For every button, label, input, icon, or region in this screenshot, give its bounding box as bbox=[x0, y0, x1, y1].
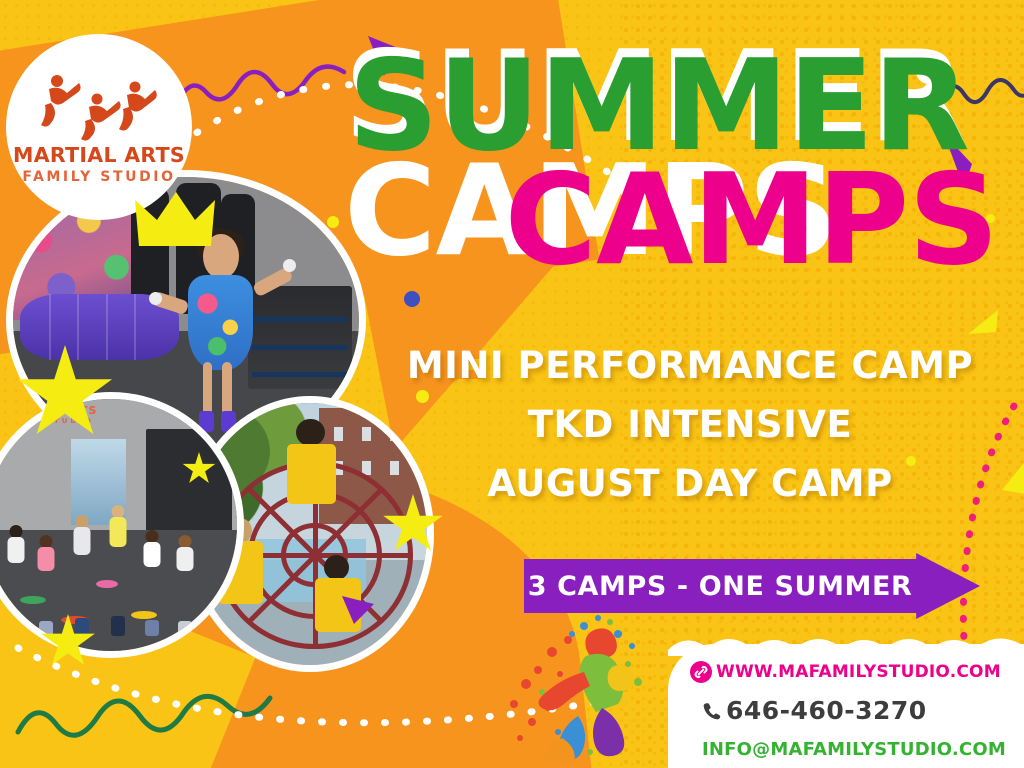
phone-icon bbox=[696, 701, 726, 721]
kid-right-head bbox=[324, 555, 349, 580]
instructor-legs bbox=[111, 616, 125, 636]
headline-camps: CAMPS CAMPS bbox=[336, 166, 1024, 274]
three-kicking-figures-icon bbox=[35, 69, 163, 143]
headline-block: SUMMER SUMMER CAMPS CAMPS bbox=[336, 52, 1024, 275]
camp-item-3: AUGUST DAY CAMP bbox=[356, 462, 1024, 505]
kid-1-body bbox=[8, 537, 25, 563]
photo-group-class: MARTIAL ARTS FAMILY STUDIO bbox=[0, 392, 244, 658]
kid-4-legs bbox=[145, 620, 159, 636]
summer-camps-flyer: SUMMER SUMMER CAMPS CAMPS MINI PERFORMAN… bbox=[0, 0, 1024, 768]
studio-dark-panel bbox=[146, 429, 232, 535]
contact-website-text: WWW.MAFAMILYSTUDIO.COM bbox=[716, 662, 1001, 682]
contact-email-text: INFO@MAFAMILYSTUDIO.COM bbox=[702, 739, 1006, 760]
yellow-triangle-right bbox=[966, 306, 1000, 338]
kid-1-legs bbox=[9, 620, 23, 636]
kid-5-body bbox=[177, 547, 194, 571]
ball-right bbox=[283, 259, 296, 272]
instructor bbox=[106, 505, 130, 636]
promo-arrow-banner: 3 CAMPS - ONE SUMMER bbox=[524, 553, 980, 619]
purple-triangle-photo bbox=[340, 592, 376, 626]
camp-list: MINI PERFORMANCE CAMP TKD INTENSIVE AUGU… bbox=[356, 344, 1024, 521]
kid-3-legs bbox=[75, 618, 89, 636]
yellow-crown-icon bbox=[133, 190, 219, 252]
contact-card: WWW.MAFAMILYSTUDIO.COM 646-460-3270 INFO… bbox=[668, 644, 1024, 768]
kid-5-legs bbox=[178, 621, 192, 636]
logo-name: MARTIAL ARTS bbox=[13, 145, 185, 166]
contact-website-row[interactable]: WWW.MAFAMILYSTUDIO.COM bbox=[668, 644, 1024, 691]
photo-2-content: MARTIAL ARTS FAMILY STUDIO bbox=[0, 399, 237, 651]
contact-email-row[interactable]: INFO@MAFAMILYSTUDIO.COM bbox=[668, 730, 1024, 768]
blue-dot bbox=[404, 291, 420, 307]
logo-tagline: FAMILY STUDIO bbox=[22, 169, 175, 185]
kid-top-head bbox=[296, 419, 325, 447]
kid-3 bbox=[71, 515, 93, 636]
headline-camps-text: CAMPS bbox=[336, 166, 998, 274]
instructor-body bbox=[109, 517, 126, 547]
child-dress bbox=[188, 275, 253, 370]
kid-5 bbox=[174, 535, 196, 636]
kid-4 bbox=[141, 530, 163, 636]
kid-top-jersey bbox=[287, 444, 336, 504]
camp-item-1: MINI PERFORMANCE CAMP bbox=[356, 344, 1024, 387]
contact-phone-text: 646-460-3270 bbox=[726, 696, 927, 725]
kid-4-body bbox=[144, 542, 161, 567]
arrow-banner-label: 3 CAMPS - ONE SUMMER bbox=[524, 553, 916, 619]
kid-3-body bbox=[73, 527, 90, 555]
kid-2 bbox=[35, 535, 57, 636]
kid-1 bbox=[5, 525, 27, 636]
contact-phone-row[interactable]: 646-460-3270 bbox=[668, 691, 1024, 730]
paint-splash-martial-artist bbox=[498, 612, 688, 768]
ball-left bbox=[149, 292, 162, 305]
camp-item-2: TKD INTENSIVE bbox=[356, 403, 1024, 446]
kid-climbing-top bbox=[273, 419, 353, 534]
link-icon bbox=[686, 661, 716, 683]
kid-2-body bbox=[38, 547, 55, 571]
